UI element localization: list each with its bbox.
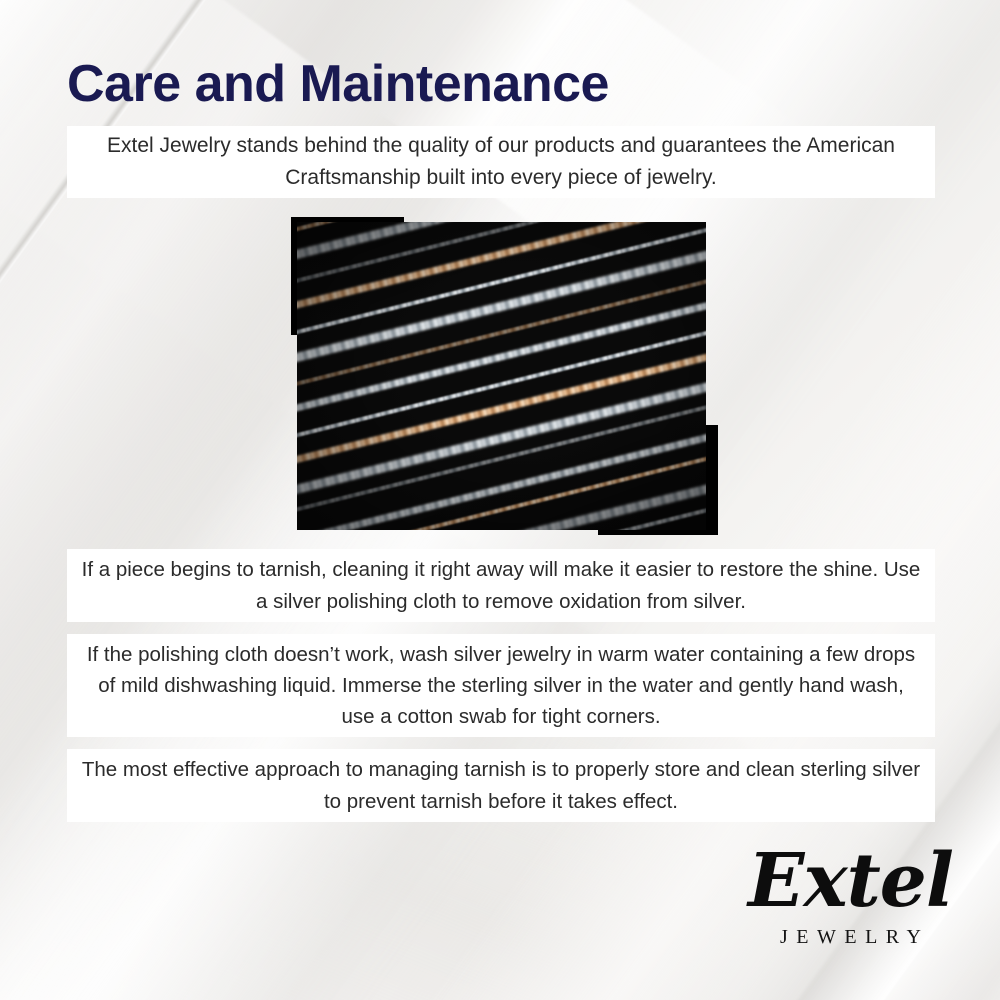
- paragraph-text-2: If the polishing cloth doesn’t work, was…: [81, 639, 921, 732]
- paragraph-plate-3: The most effective approach to managing …: [67, 749, 935, 822]
- page-title: Care and Maintenance: [67, 57, 609, 112]
- brand-logo-wordmark: JEWELRY: [748, 926, 953, 949]
- subtitle-plate: Extel Jewelry stands behind the quality …: [67, 126, 935, 198]
- chains-photo: [297, 222, 706, 530]
- paragraph-plate-2: If the polishing cloth doesn’t work, was…: [67, 634, 935, 737]
- photo-vignette: [297, 222, 706, 530]
- brand-logo: Extel JEWELRY: [748, 848, 953, 960]
- paragraph-plate-1: If a piece begins to tarnish, cleaning i…: [67, 549, 935, 622]
- brand-logo-script: Extel: [748, 844, 953, 918]
- paragraph-text-1: If a piece begins to tarnish, cleaning i…: [81, 554, 921, 616]
- poster-canvas: Care and Maintenance Extel Jewelry stand…: [0, 0, 1000, 1000]
- photo-composition: [280, 210, 730, 540]
- paragraph-text-3: The most effective approach to managing …: [81, 754, 921, 816]
- subtitle-text: Extel Jewelry stands behind the quality …: [81, 130, 921, 194]
